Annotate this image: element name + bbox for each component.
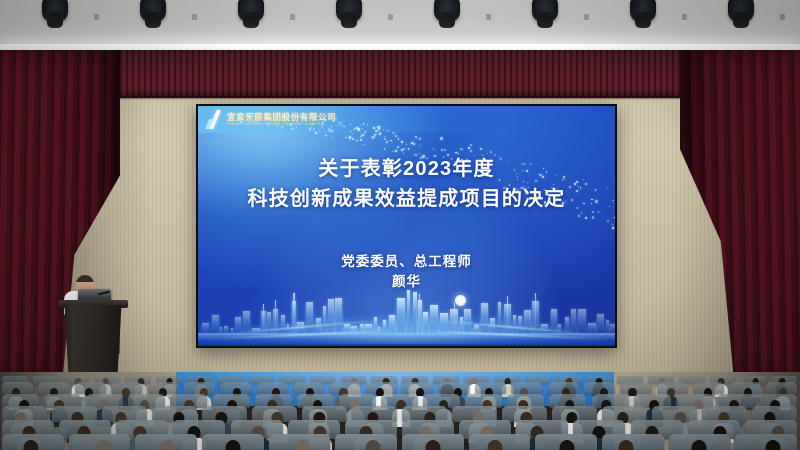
skyline-building (518, 316, 523, 335)
particle-dot (275, 122, 277, 124)
particle-dot (267, 124, 269, 126)
skyline-building (606, 320, 609, 334)
speaker-role: 党委委员、总工程师 (341, 254, 472, 269)
audience-member (758, 440, 788, 450)
particle-dot (367, 124, 369, 126)
audience-head (426, 440, 441, 450)
particle-dot (592, 216, 594, 218)
particle-dot (333, 120, 335, 122)
particle-dot (395, 150, 397, 152)
stage-light-icon (238, 0, 264, 22)
particle-dot (415, 136, 417, 138)
stage-light-icon (336, 0, 362, 22)
particle-dot (380, 132, 381, 133)
particle-dot (282, 115, 284, 117)
skyline-building (498, 302, 502, 334)
particle-dot (313, 128, 315, 130)
skyline-spire (507, 296, 508, 334)
audience-member (552, 440, 582, 450)
audience-head (366, 440, 381, 450)
particle-dot (270, 122, 272, 124)
ceiling-fitting (780, 14, 785, 20)
particle-dot (247, 116, 249, 118)
particle-dot (420, 138, 422, 140)
particle-dot (406, 144, 407, 145)
particle-dot (387, 130, 389, 132)
particle-dot (356, 127, 358, 129)
city-skyline-graphic (198, 280, 615, 346)
particle-dot (398, 138, 400, 140)
particle-dot (374, 134, 376, 136)
particle-dot (296, 127, 298, 129)
particle-dot (379, 133, 381, 135)
podium-cable (118, 314, 120, 354)
particle-dot (363, 144, 365, 146)
audience-member (684, 440, 714, 450)
particle-dot (297, 122, 298, 123)
particle-dot (364, 131, 366, 133)
particle-dot (612, 224, 613, 225)
particle-dot (419, 145, 420, 146)
particle-dot (401, 141, 403, 143)
particle-dot (356, 140, 357, 141)
particle-dot (248, 113, 249, 114)
particle-dot (470, 150, 472, 152)
particle-dot (360, 139, 362, 141)
skyline-building (524, 310, 530, 334)
particle-dot (315, 132, 317, 134)
particle-dot (360, 125, 361, 126)
particle-dot (324, 119, 326, 121)
particle-dot (455, 152, 457, 154)
particle-dot (350, 124, 351, 125)
particle-dot (319, 131, 320, 132)
particle-dot (434, 149, 435, 150)
particle-dot (330, 130, 332, 132)
skyline-spire (419, 294, 420, 334)
particle-dot (413, 143, 415, 145)
particle-dot (324, 117, 325, 118)
particle-dot (480, 148, 482, 150)
skyline-building (281, 315, 285, 334)
particle-dot (312, 123, 314, 125)
audience-member (611, 440, 641, 450)
presentation-slide: 宜宾天原集团股份有限公司 YIBIN TIANYUAN GROUP COMPAN… (198, 106, 615, 346)
particle-dot (292, 128, 294, 130)
particle-dot (377, 130, 378, 131)
led-presentation-screen: 宜宾天原集团股份有限公司 YIBIN TIANYUAN GROUP COMPAN… (196, 104, 617, 348)
audience-member (288, 440, 318, 450)
particle-dot (281, 126, 283, 128)
moon-icon (455, 295, 466, 306)
particle-dot (304, 117, 306, 119)
ceiling-fitting (584, 14, 589, 20)
stage-light-icon (532, 0, 558, 22)
ceiling-fitting (682, 14, 687, 20)
stage-light-icon (140, 0, 166, 22)
audience-member (218, 440, 248, 450)
particle-dot (371, 136, 374, 139)
skyline-building (597, 314, 604, 334)
skyline-building (571, 309, 577, 334)
particle-dot (248, 120, 250, 122)
particle-dot (395, 135, 397, 137)
audience-head (765, 440, 780, 450)
particle-dot (364, 135, 365, 136)
particle-dot (345, 137, 346, 138)
particle-dot (302, 114, 304, 116)
particle-dot (384, 136, 385, 137)
skyline-building (335, 298, 342, 334)
skyline-building (513, 315, 516, 334)
particle-dot (230, 114, 232, 116)
particle-dot (444, 149, 446, 151)
auditorium-photo: 宜宾天原集团股份有限公司 YIBIN TIANYUAN GROUP COMPAN… (0, 0, 800, 450)
ceiling-fitting (192, 14, 197, 20)
particle-dot (335, 118, 337, 120)
particle-dot (375, 130, 377, 132)
particle-dot (386, 141, 388, 143)
audience-member (480, 440, 510, 450)
audience-member (418, 440, 448, 450)
particle-dot (432, 148, 433, 149)
particle-dot (279, 112, 280, 113)
stage-light-icon (728, 0, 754, 22)
particle-dot (252, 122, 253, 123)
slide-title-line2: 科技创新成果效益提成项目的决定 (198, 184, 615, 214)
audience-head (296, 440, 311, 450)
particle-dot (252, 113, 255, 116)
skyline-building (323, 306, 326, 334)
audience-head (619, 440, 634, 450)
particle-dot (284, 118, 285, 119)
audience-head (161, 440, 176, 450)
ceiling-fitting (290, 14, 295, 20)
skyline-building (407, 290, 410, 334)
particle-dot (607, 220, 609, 222)
audience-head (225, 440, 240, 450)
particle-dot (341, 125, 342, 126)
skyline-building (306, 302, 313, 334)
skyline-ground (198, 333, 615, 346)
particle-dot (352, 138, 354, 140)
particle-dot (470, 144, 472, 146)
particle-dot (441, 149, 442, 150)
particle-dot (255, 122, 257, 124)
particle-dot (352, 133, 353, 134)
slide-title: 关于表彰2023年度 科技创新成果效益提成项目的决定 (198, 154, 615, 214)
particle-dot (384, 148, 386, 150)
ceiling-fitting (94, 14, 99, 20)
particle-dot (440, 137, 442, 139)
stage-light-icon (630, 0, 656, 22)
particle-dot (239, 114, 240, 115)
particle-dot (288, 114, 289, 115)
audience-seating (0, 376, 800, 450)
particle-dot (413, 140, 414, 141)
particle-dot (585, 217, 587, 219)
ceiling-fitting (388, 14, 393, 20)
particle-dot (612, 227, 614, 229)
particle-dot (380, 126, 381, 127)
particle-dot (290, 124, 292, 126)
skyline-building (397, 298, 404, 334)
particle-dot (383, 129, 384, 130)
particle-dot (325, 135, 326, 136)
skyline-building (413, 292, 417, 334)
audience-member (153, 440, 183, 450)
ceiling-fitting (486, 14, 491, 20)
particle-dot (360, 136, 361, 137)
particle-dot (240, 121, 242, 123)
particle-dot (322, 124, 324, 126)
skyline-spire (454, 303, 455, 334)
particle-dot (339, 122, 341, 124)
particle-dot (331, 126, 332, 127)
particle-dot (330, 117, 331, 118)
audience-member (359, 440, 389, 450)
particle-dot (578, 215, 580, 217)
particle-dot (392, 132, 394, 134)
particle-dot (384, 138, 386, 140)
particle-dot (390, 140, 392, 142)
particle-dot (241, 114, 242, 115)
audience-head (691, 440, 706, 450)
ceiling-panel (0, 0, 800, 46)
audience-head (98, 440, 113, 450)
particle-dot (286, 113, 288, 115)
particle-dot (238, 118, 241, 121)
slide-title-line1: 关于表彰2023年度 (318, 158, 495, 180)
audience-member (90, 440, 120, 450)
particle-dot (614, 217, 615, 218)
particle-dot (363, 123, 364, 124)
particle-dot (344, 126, 345, 127)
particle-dot (332, 136, 333, 137)
audience-head (559, 440, 574, 450)
skyline-building (212, 315, 218, 334)
skyline-building (328, 299, 335, 334)
audience-head (23, 440, 38, 450)
particle-dot (462, 149, 463, 150)
particle-dot (397, 146, 399, 148)
particle-dot (362, 128, 363, 129)
particle-dot (378, 128, 381, 131)
skyline-building (578, 309, 585, 334)
particle-dot (309, 128, 311, 130)
particle-dot (373, 127, 375, 129)
particle-dot (239, 117, 240, 118)
stage-light-icon (42, 0, 68, 22)
audience-member (16, 440, 46, 450)
particle-dot (408, 148, 410, 150)
particle-dot (337, 125, 338, 126)
particle-dot (490, 151, 492, 153)
skyline-building (481, 303, 488, 334)
particle-dot (392, 151, 394, 153)
particle-dot (468, 147, 470, 149)
particle-dot (321, 126, 323, 128)
audience-head (487, 440, 502, 450)
stage-light-icon (434, 0, 460, 22)
particle-dot (277, 125, 279, 127)
